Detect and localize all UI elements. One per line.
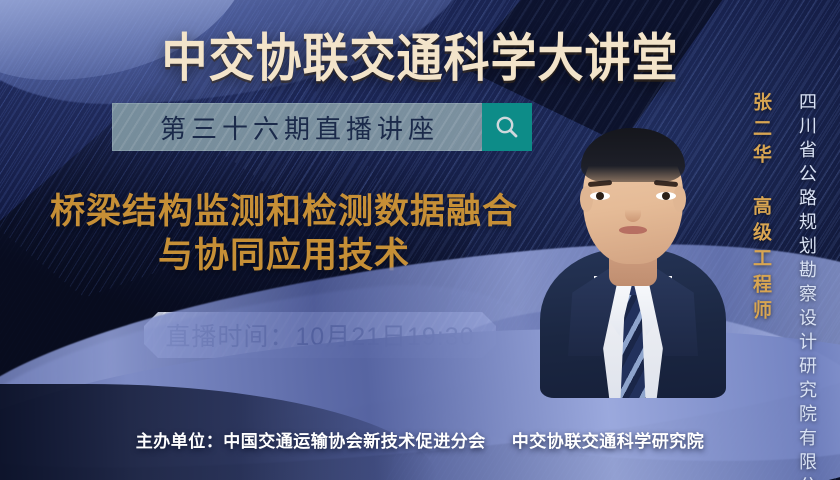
portrait-mouth — [619, 226, 647, 234]
speaker-portrait — [538, 78, 728, 398]
portrait-eye-left — [590, 192, 610, 200]
lecture-title: 桥梁结构监测和检测数据融合 与协同应用技术 — [24, 190, 544, 278]
speaker-name-vertical: 张二华 高级工程师 — [747, 92, 774, 326]
portrait-ear-right — [673, 186, 686, 212]
broadcast-time-badge: 直播时间：10月21日19:30 — [144, 312, 496, 358]
search-button[interactable] — [482, 103, 532, 151]
footer-prefix: 主办单位： — [136, 432, 224, 451]
footer-org-2: 中交协联交通科学研究院 — [512, 432, 705, 451]
portrait-ear-left — [580, 186, 593, 212]
lecture-title-line-2: 与协同应用技术 — [24, 234, 544, 278]
episode-search-bar[interactable]: 第三十六期直播讲座 — [112, 103, 532, 151]
search-icon — [494, 114, 520, 140]
poster-canvas: 中交协联交通科学大讲堂 第三十六期直播讲座 桥梁结构监测和检测数据融合 与协同应… — [0, 0, 840, 480]
portrait-eye-right — [656, 192, 676, 200]
lecture-title-line-1: 桥梁结构监测和检测数据融合 — [24, 190, 544, 234]
portrait-hair — [581, 128, 685, 182]
broadcast-time-text: 直播时间：10月21日19:30 — [165, 317, 474, 353]
episode-label: 第三十六期直播讲座 — [112, 103, 482, 151]
footer-organizers: 主办单位：中国交通运输协会新技术促进分会中交协联交通科学研究院 — [0, 427, 840, 452]
speaker-organization-vertical: 四川省公路规划勘察设计研究院有限公司 — [794, 92, 820, 480]
portrait-nose — [625, 204, 641, 222]
footer-org-1: 中国交通运输协会新技术促进分会 — [223, 432, 486, 451]
